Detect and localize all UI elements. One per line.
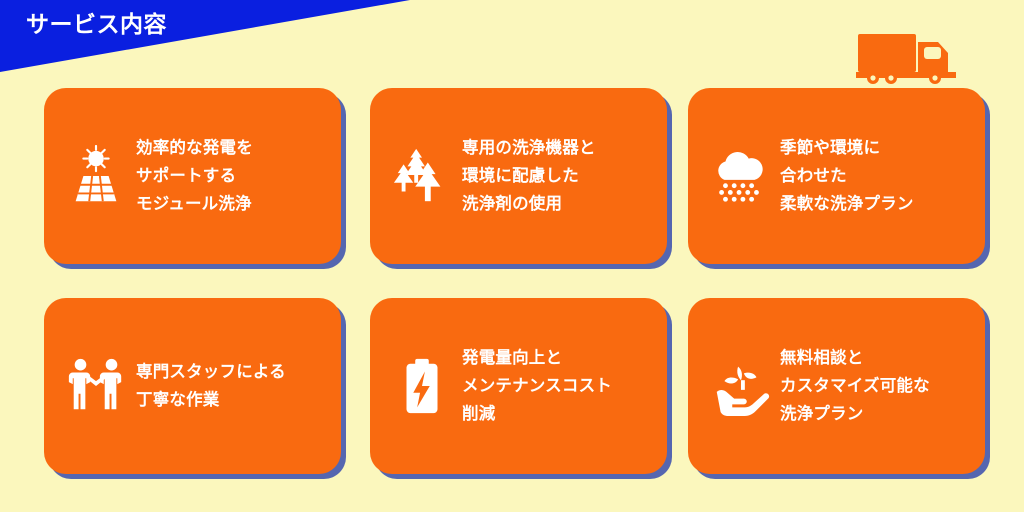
card-line: 専用の洗浄機器と [462,134,596,162]
slide-canvas: サービス内容 [0,0,1024,512]
service-card-6-text: 無料相談と カスタマイズ可能な 洗浄プラン [780,344,940,428]
service-card-4-text: 専門スタッフによる 丁寧な作業 [136,358,296,414]
card-line: 専門スタッフによる [136,358,286,386]
rain-cloud-icon [688,88,780,264]
service-card-2-text: 専用の洗浄機器と 環境に配慮した 洗浄剤の使用 [462,134,606,218]
card-line: 削減 [462,400,612,428]
truck-icon [856,30,960,86]
solar-panel-icon [44,88,136,264]
hand-sprout-icon [688,298,780,474]
handshake-people-icon [44,298,136,474]
card-line: 丁寧な作業 [136,386,286,414]
card-line: 季節や環境に [780,134,914,162]
service-card-5-text: 発電量向上と メンテナンスコスト 削減 [462,344,622,428]
card-line: 洗浄剤の使用 [462,190,596,218]
card-line: モジュール洗浄 [136,190,253,218]
service-card-1-text: 効率的な発電を サポートする モジュール洗浄 [136,134,263,218]
service-card-3-text: 季節や環境に 合わせた 柔軟な洗浄プラン [780,134,924,218]
service-card-2[interactable]: 専用の洗浄機器と 環境に配慮した 洗浄剤の使用 [370,88,667,264]
service-card-3[interactable]: 季節や環境に 合わせた 柔軟な洗浄プラン [688,88,985,264]
service-card-4[interactable]: 専門スタッフによる 丁寧な作業 [44,298,341,474]
service-card-1[interactable]: 効率的な発電を サポートする モジュール洗浄 [44,88,341,264]
card-line: サポートする [136,162,253,190]
card-line: カスタマイズ可能な [780,372,930,400]
card-line: 合わせた [780,162,914,190]
service-card-6[interactable]: 無料相談と カスタマイズ可能な 洗浄プラン [688,298,985,474]
trees-icon [370,88,462,264]
battery-bolt-icon [370,298,462,474]
card-line: 洗浄プラン [780,400,930,428]
service-card-5[interactable]: 発電量向上と メンテナンスコスト 削減 [370,298,667,474]
card-line: 無料相談と [780,344,930,372]
card-line: 環境に配慮した [462,162,596,190]
page-title: サービス内容 [26,10,167,38]
card-line: 発電量向上と [462,344,612,372]
card-line: メンテナンスコスト [462,372,612,400]
card-line: 効率的な発電を [136,134,253,162]
card-line: 柔軟な洗浄プラン [780,190,914,218]
